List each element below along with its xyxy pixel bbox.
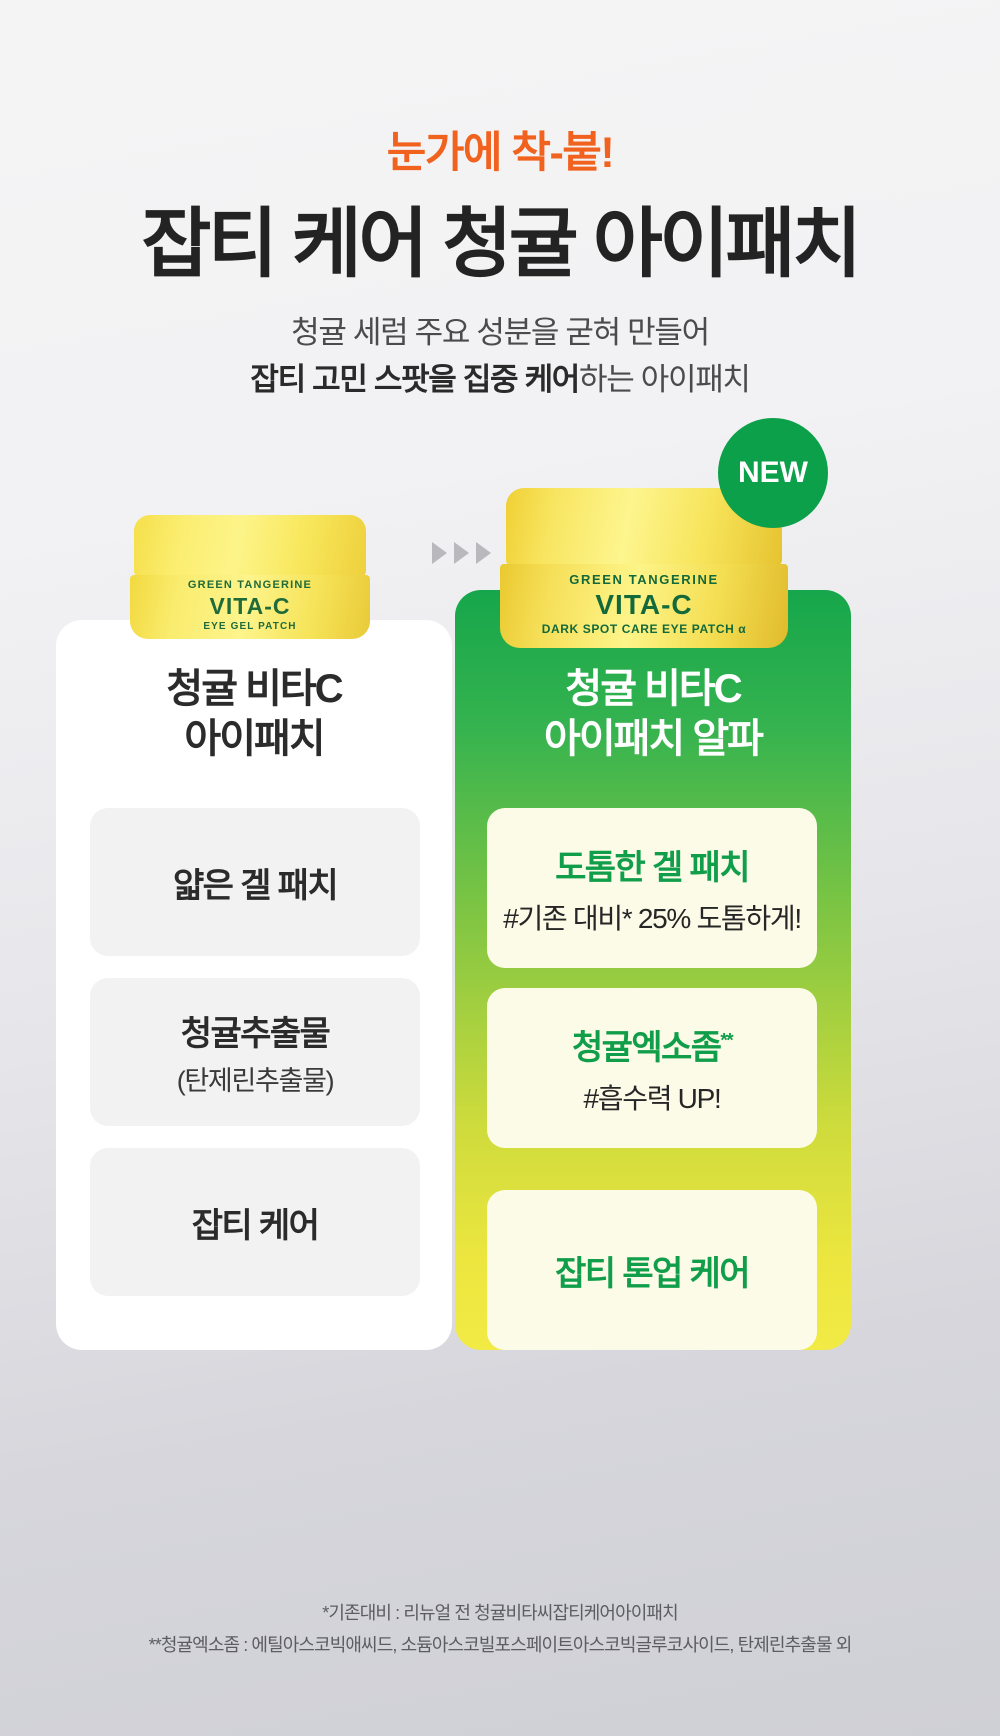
- feature-main-text: 잡티 케어: [192, 1198, 319, 1247]
- feature-sub-text: #기존 대비* 25% 도톰하게!: [503, 897, 801, 937]
- jar-product-name: VITA-C: [500, 589, 788, 621]
- card-old-title-line2: 아이패치: [56, 714, 452, 764]
- jar-brand-line: GREEN TANGERINE: [130, 579, 370, 591]
- feature-item-old: 청귤추출물 (탄제린추출물): [90, 978, 420, 1126]
- feature-sub-text: #흡수력 UP!: [584, 1077, 721, 1117]
- card-new-title-line2: 아이패치 알파: [455, 714, 851, 764]
- jar-variant: DARK SPOT CARE EYE PATCH α: [500, 622, 788, 636]
- card-old-title-line1: 청귤 비타C: [56, 664, 452, 714]
- card-new-title: 청귤 비타C 아이패치 알파: [455, 664, 851, 764]
- arrow-right-icon: [454, 542, 469, 564]
- subtitle-line-1: 청귤 세럼 주요 성분을 굳혀 만들어: [0, 310, 1000, 357]
- footnotes: *기존대비 : 리뉴얼 전 청귤비타씨잡티케어아이패치 **청귤엑소좀 : 에틸…: [0, 1598, 1000, 1661]
- subtitle-block: 청귤 세럼 주요 성분을 굳혀 만들어 잡티 고민 스팟을 집중 케어하는 아이…: [0, 310, 1000, 403]
- footnote-line-2: **청귤엑소좀 : 에틸아스코빅애씨드, 소듐아스코빌포스페이트아스코빅글루코사…: [0, 1630, 1000, 1662]
- new-badge: NEW: [718, 418, 828, 528]
- jar-brand-line: GREEN TANGERINE: [500, 572, 788, 587]
- subtitle-tail: 하는 아이패치: [579, 362, 750, 397]
- feature-item-old: 얇은 겔 패치: [90, 808, 420, 956]
- feature-main-text: 잡티 톤업 케어: [555, 1246, 749, 1295]
- subtitle-emphasis: 잡티 고민 스팟을 집중 케어: [250, 362, 579, 397]
- new-badge-label: NEW: [738, 456, 808, 490]
- feature-item-old: 잡티 케어: [90, 1148, 420, 1296]
- card-new-title-line1: 청귤 비타C: [455, 664, 851, 714]
- feature-item-new: 청귤엑소좀** #흡수력 UP!: [487, 988, 817, 1148]
- footnote-line-1: *기존대비 : 리뉴얼 전 청귤비타씨잡티케어아이패치: [0, 1598, 1000, 1630]
- feature-item-new: 도톰한 겔 패치 #기존 대비* 25% 도톰하게!: [487, 808, 817, 968]
- subtitle-line-2: 잡티 고민 스팟을 집중 케어하는 아이패치: [0, 357, 1000, 404]
- card-old-title: 청귤 비타C 아이패치: [56, 664, 452, 764]
- arrow-right-icon: [432, 542, 447, 564]
- feature-main-text: 얇은 겔 패치: [173, 858, 337, 907]
- feature-item-new: 잡티 톤업 케어: [487, 1190, 817, 1350]
- feature-footnote-marker: **: [720, 1030, 732, 1051]
- feature-main-text: 청귤추출물: [181, 1006, 329, 1055]
- jar-lid: [134, 515, 366, 577]
- infographic-page: 눈가에 착-붙! 잡티 케어 청귤 아이패치 청귤 세럼 주요 성분을 굳혀 만…: [0, 0, 1000, 1736]
- jar-product-name: VITA-C: [130, 593, 370, 620]
- feature-main-text: 청귤엑소좀**: [572, 1020, 732, 1069]
- page-title: 잡티 케어 청귤 아이패치: [0, 182, 1000, 292]
- product-jar-old: GREEN TANGERINE VITA-C EYE GEL PATCH: [130, 515, 370, 639]
- jar-variant: EYE GEL PATCH: [130, 621, 370, 632]
- arrow-right-icon: [476, 542, 491, 564]
- transition-arrows: [432, 542, 491, 564]
- kicker-headline: 눈가에 착-붙!: [0, 118, 1000, 180]
- feature-sub-text: (탄제린추출물): [177, 1059, 334, 1098]
- feature-main-text: 도톰한 겔 패치: [555, 840, 749, 889]
- feature-main-label: 청귤엑소좀: [572, 1029, 720, 1067]
